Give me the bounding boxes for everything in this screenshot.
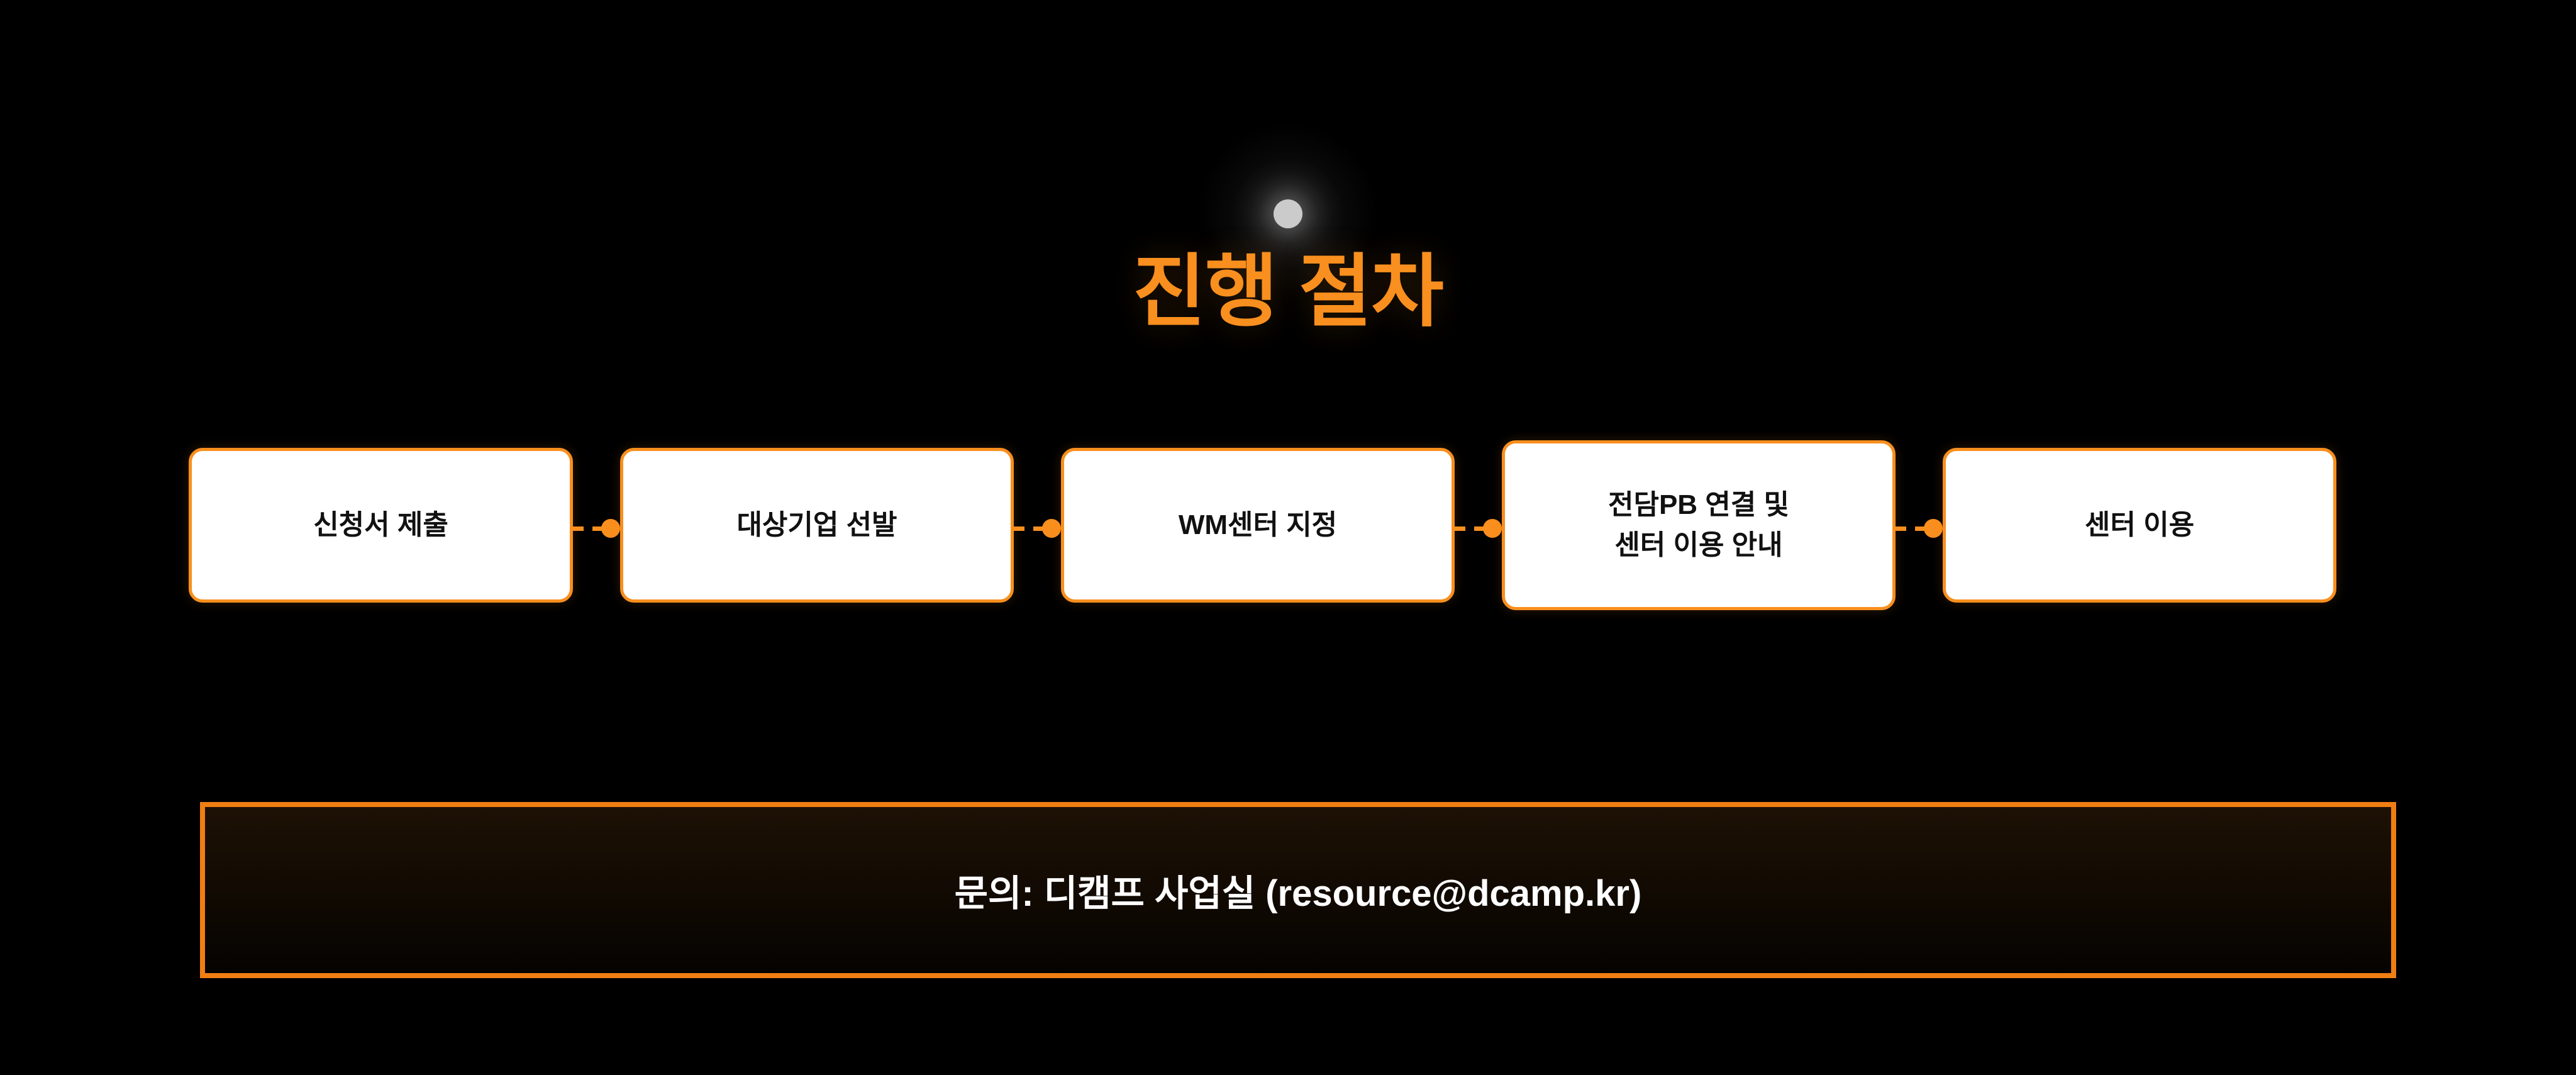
process-step-4[interactable]: 전담PB 연결 및 센터 이용 안내 bbox=[1502, 440, 1896, 610]
process-step-5-label: 센터 이용 bbox=[2085, 505, 2194, 545]
process-step-1-label: 신청서 제출 bbox=[313, 505, 448, 545]
connector-2-3 bbox=[1014, 524, 1061, 533]
process-steps-row: 신청서 제출 대상기업 선발 WM센터 지정 전담PB 연결 및 센터 이용 안… bbox=[189, 434, 2387, 616]
process-step-3[interactable]: WM센터 지정 bbox=[1061, 448, 1455, 603]
connector-2-3-dashes bbox=[1014, 526, 1045, 531]
page-title: 진행 절차 bbox=[0, 250, 2576, 333]
contact-banner: 문의: 디캠프 사업실 (resource@dcamp.kr) bbox=[200, 802, 2396, 978]
process-step-5[interactable]: 센터 이용 bbox=[1943, 448, 2336, 603]
connector-4-5-dashes bbox=[1896, 526, 1926, 531]
header-section: 진행 절차 bbox=[0, 0, 2576, 390]
process-step-1[interactable]: 신청서 제출 bbox=[189, 448, 573, 603]
connector-2-3-dot bbox=[1042, 519, 1061, 538]
connector-1-2 bbox=[573, 524, 620, 533]
connector-3-4-dashes bbox=[1455, 526, 1485, 531]
connector-3-4-dot bbox=[1483, 519, 1502, 538]
process-step-4-label: 전담PB 연결 및 센터 이용 안내 bbox=[1608, 485, 1789, 565]
process-step-3-label: WM센터 지정 bbox=[1179, 505, 1337, 545]
process-step-2-label: 대상기업 선발 bbox=[736, 505, 897, 545]
connector-1-2-dot bbox=[601, 519, 620, 538]
connector-4-5 bbox=[1896, 524, 1943, 533]
connector-4-5-dot bbox=[1924, 519, 1943, 538]
process-step-2[interactable]: 대상기업 선발 bbox=[620, 448, 1014, 603]
contact-text: 문의: 디캠프 사업실 (resource@dcamp.kr) bbox=[955, 864, 1642, 916]
connector-1-2-dashes bbox=[573, 526, 604, 531]
glow-dot-core bbox=[1274, 199, 1302, 228]
connector-3-4 bbox=[1455, 524, 1502, 533]
